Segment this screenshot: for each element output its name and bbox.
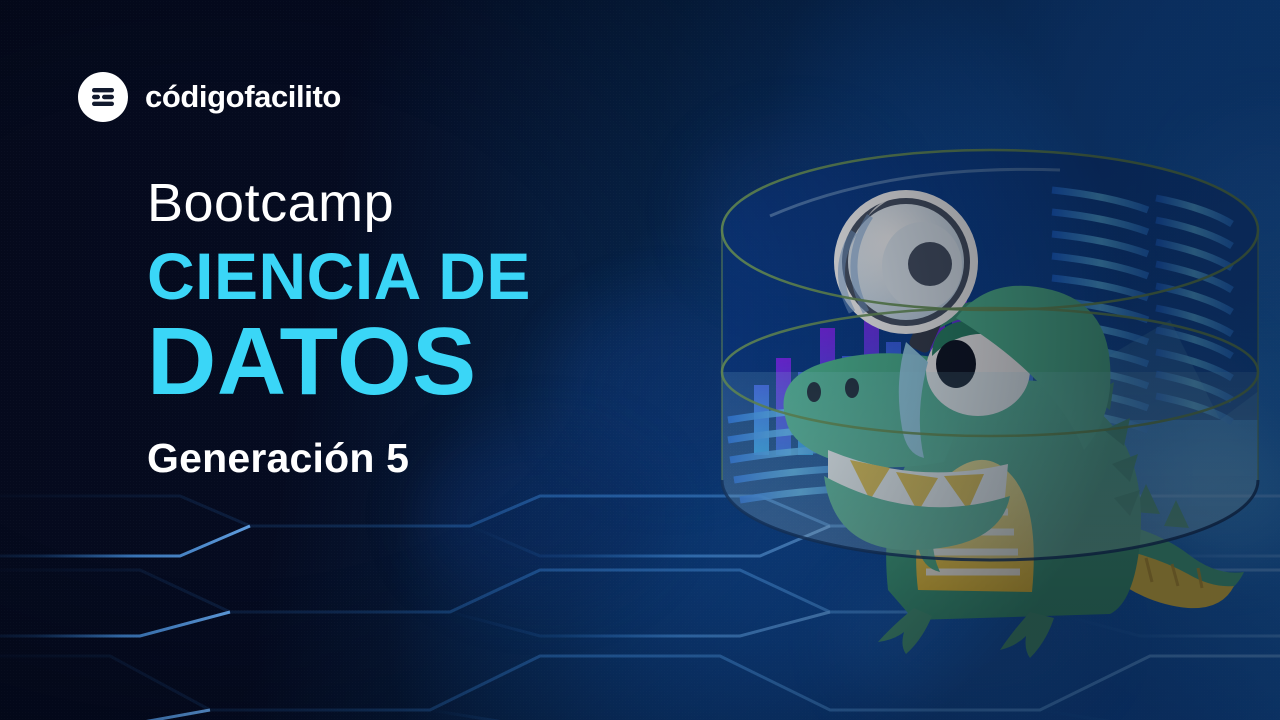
brand-logo[interactable]: códigofacilito bbox=[78, 72, 341, 122]
list-bars-icon bbox=[78, 72, 128, 122]
subtitle-text: Generación 5 bbox=[147, 438, 531, 479]
brand-name: códigofacilito bbox=[145, 79, 341, 115]
eyebrow-text: Bootcamp bbox=[147, 176, 531, 230]
headline-block: Bootcamp CIENCIA DE DATOS Generación 5 bbox=[147, 176, 531, 479]
title-line-2: DATOS bbox=[147, 314, 531, 410]
promo-banner: códigofacilito Bootcamp CIENCIA DE DATOS… bbox=[0, 0, 1280, 720]
title-line-1: CIENCIA DE bbox=[147, 242, 531, 312]
hero-illustration bbox=[700, 120, 1280, 720]
